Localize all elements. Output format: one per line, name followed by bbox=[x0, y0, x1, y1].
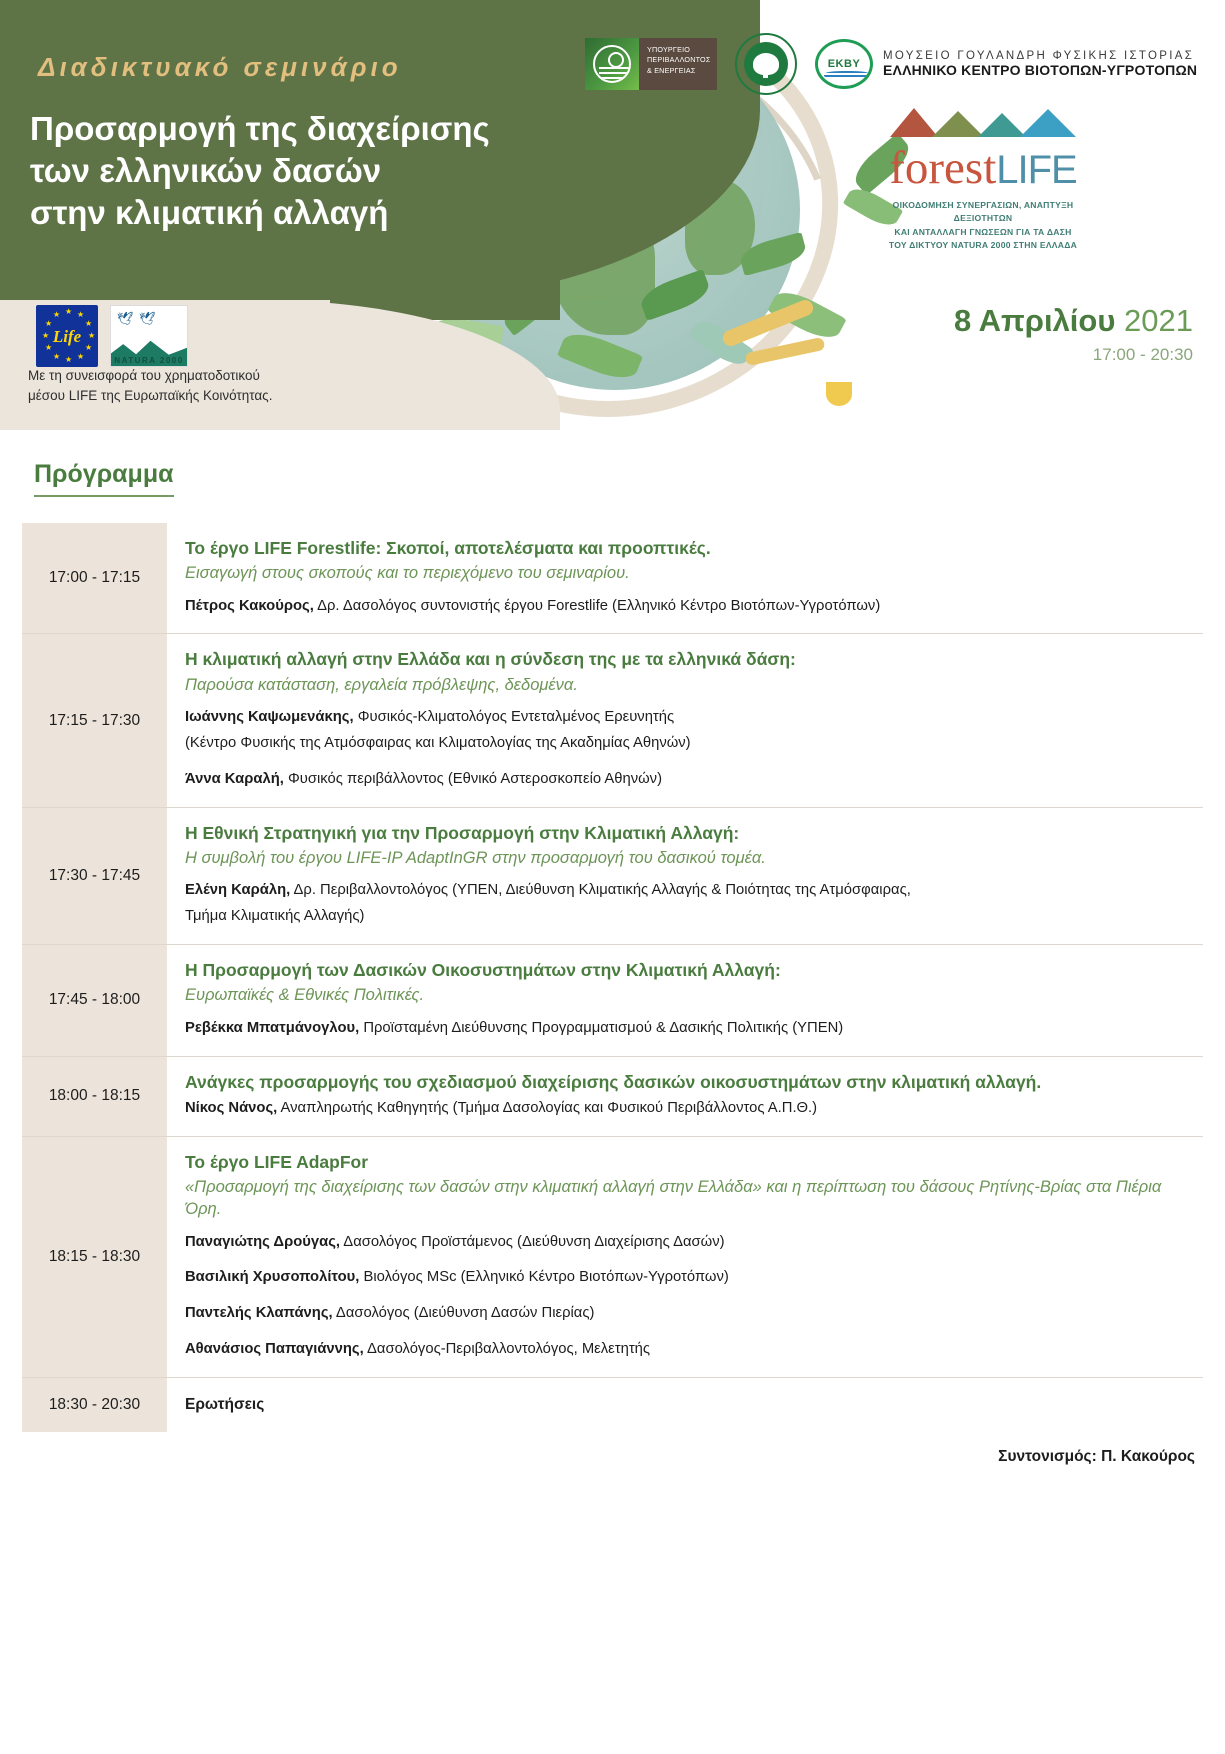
page-title-line-3: στην κλιματική αλλαγή bbox=[30, 192, 590, 234]
session-title: Η Προσαρμογή των Δασικών Οικοσυστημάτων … bbox=[185, 959, 1183, 982]
ypen-ministry-logo-icon: ΥΠΟΥΡΓΕΙΟ ΠΕΡΙΒΑΛΛΟΝΤΟΣ & ΕΝΕΡΓΕΙΑΣ bbox=[585, 38, 717, 90]
ekby-logo: EKBY ΜΟΥΣΕΙΟ ΓΟΥΛΑΝΔΡΗ ΦΥΣΙΚΗΣ ΙΣΤΟΡΙΑΣ … bbox=[815, 39, 1197, 89]
speaker-role: Προϊσταμένη Διεύθυνσης Προγραμματισμού &… bbox=[359, 1020, 843, 1036]
forestlife-tagline: ΟΙΚΟΔΟΜΗΣΗ ΣΥΝΕΡΓΑΣΙΩΝ, ΑΝΑΠΤΥΞΗ ΔΕΞΙΟΤΗ… bbox=[868, 199, 1098, 252]
speaker-name: Άννα Καραλή, bbox=[185, 771, 284, 787]
session-time: 17:30 - 17:45 bbox=[22, 808, 167, 944]
event-date-year: 2021 bbox=[1124, 303, 1193, 338]
speaker-name: Παναγιώτης Δρούγας, bbox=[185, 1234, 340, 1250]
session-time: 17:15 - 17:30 bbox=[22, 634, 167, 806]
session-title: Το έργο LIFE Forestlife: Σκοποί, αποτελέ… bbox=[185, 537, 1183, 560]
speaker-name: Πέτρος Κακούρος, bbox=[185, 598, 314, 614]
birds-icon: 🕊 🕊 bbox=[117, 311, 157, 327]
session-content: Η Εθνική Στρατηγική για την Προσαρμογή σ… bbox=[167, 808, 1203, 944]
session-content: Το έργο LIFE AdapFor«Προσαρμογή της διαχ… bbox=[167, 1137, 1203, 1377]
program-heading: Πρόγραμμα bbox=[34, 460, 174, 497]
forestlife-forest-word: forest bbox=[889, 142, 996, 194]
session-speaker: Ιωάννης Καψωμενάκης, Φυσικός-Κλιματολόγο… bbox=[185, 706, 1183, 729]
session-speaker: Παναγιώτης Δρούγας, Δασολόγος Προϊστάμεν… bbox=[185, 1231, 1183, 1254]
poster-page: Διαδικτυακό σεμινάριο Προσαρμογή της δια… bbox=[0, 0, 1225, 1754]
speaker-role: Δρ. Περιβαλλοντολόγος (ΥΠΕΝ, Διεύθυνση Κ… bbox=[290, 882, 911, 898]
speaker-name: Νίκος Νάνος, bbox=[185, 1100, 277, 1116]
table-row: 18:15 - 18:30Το έργο LIFE AdapFor«Προσαρ… bbox=[22, 1137, 1203, 1378]
table-row: 18:30 - 20:30Ερωτήσεις bbox=[22, 1378, 1203, 1432]
session-subtitle: «Προσαρμογή της διαχείρισης των δασών στ… bbox=[185, 1176, 1183, 1221]
session-speaker: Αθανάσιος Παπαγιάννης, Δασολόγος-Περιβαλ… bbox=[185, 1338, 1183, 1361]
session-content: Ανάγκες προσαρμογής του σχεδιασμού διαχε… bbox=[167, 1057, 1203, 1136]
event-date-block: 8 Απριλίου 2021 17:00 - 20:30 bbox=[954, 303, 1193, 365]
session-time: 17:45 - 18:00 bbox=[22, 945, 167, 1055]
session-subtitle: Ευρωπαϊκές & Εθνικές Πολιτικές. bbox=[185, 984, 1183, 1006]
page-title: Προσαρμογή της διαχείρισης των ελληνικών… bbox=[30, 108, 590, 234]
session-speaker: Νίκος Νάνος, Αναπληρωτής Καθηγητής (Τμήμ… bbox=[185, 1097, 1183, 1120]
session-speaker: Τμήμα Κλιματικής Αλλαγής) bbox=[185, 905, 1183, 928]
speaker-role: Αναπληρωτής Καθηγητής (Τμήμα Δασολογίας … bbox=[277, 1100, 817, 1116]
session-content: Ερωτήσεις bbox=[167, 1378, 1203, 1432]
speaker-name: Αθανάσιος Παπαγιάννης, bbox=[185, 1341, 364, 1357]
forestlife-wordmark: forestLIFE bbox=[868, 145, 1098, 192]
funding-logos: ★ ★ ★ ★ ★ ★ ★ ★ ★ ★ ★ ★ Life 🕊 🕊 bbox=[36, 305, 188, 367]
session-content: Η Προσαρμογή των Δασικών Οικοσυστημάτων … bbox=[167, 945, 1203, 1055]
speaker-name: Βασιλική Χρυσοπολίτου, bbox=[185, 1269, 359, 1285]
session-subtitle: Η συμβολή του έργου LIFE-IP AdaptInGR στ… bbox=[185, 847, 1183, 869]
ekby-abbrev: EKBY bbox=[828, 58, 861, 70]
session-content: Η κλιματική αλλαγή στην Ελλάδα και η σύν… bbox=[167, 634, 1203, 806]
table-row: 17:00 - 17:15Το έργο LIFE Forestlife: Σκ… bbox=[22, 523, 1203, 634]
session-title: Η κλιματική αλλαγή στην Ελλάδα και η σύν… bbox=[185, 648, 1183, 671]
session-speaker: Βασιλική Χρυσοπολίτου, Βιολόγος MSc (Ελλ… bbox=[185, 1266, 1183, 1289]
session-speaker: Πέτρος Κακούρος, Δρ. Δασολόγος συντονιστ… bbox=[185, 595, 1183, 618]
program-section: Πρόγραμμα 17:00 - 17:15Το έργο LIFE Fore… bbox=[0, 430, 1225, 1466]
session-content: Το έργο LIFE Forestlife: Σκοποί, αποτελέ… bbox=[167, 523, 1203, 633]
speaker-role: Δασολόγος (Διεύθυνση Δασών Πιερίας) bbox=[333, 1305, 595, 1321]
page-title-line-1: Προσαρμογή της διαχείρισης bbox=[30, 108, 590, 150]
forestlife-tagline-line-1: ΟΙΚΟΔΟΜΗΣΗ ΣΥΝΕΡΓΑΣΙΩΝ, ΑΝΑΠΤΥΞΗ ΔΕΞΙΟΤΗ… bbox=[868, 199, 1098, 226]
mountain-peaks-icon bbox=[888, 104, 1078, 138]
speaker-role: Δασολόγος-Περιβαλλοντολόγος, Μελετητής bbox=[364, 1341, 650, 1357]
natura2000-logo-icon: 🕊 🕊 NATURA 2000 bbox=[110, 305, 188, 367]
session-qa-label: Ερωτήσεις bbox=[185, 1396, 1183, 1414]
speaker-name: Παντελής Κλαπάνης, bbox=[185, 1305, 333, 1321]
session-speaker: Ρεβέκκα Μπατμάνογλου, Προϊσταμένη Διεύθυ… bbox=[185, 1017, 1183, 1040]
partner-logos: ΥΠΟΥΡΓΕΙΟ ΠΕΡΙΒΑΛΛΟΝΤΟΣ & ΕΝΕΡΓΕΙΑΣ EKBY… bbox=[585, 33, 1197, 95]
table-row: 17:30 - 17:45Η Εθνική Στρατηγική για την… bbox=[22, 808, 1203, 945]
life-wordmark: Life bbox=[36, 327, 98, 347]
session-speaker: (Κέντρο Φυσικής της Ατμόσφαιρας και Κλιμ… bbox=[185, 732, 1183, 755]
ypen-line-3: & ΕΝΕΡΓΕΙΑΣ bbox=[647, 66, 709, 76]
speaker-name: Ιωάννης Καψωμενάκης, bbox=[185, 709, 354, 725]
moderation-note: Συντονισμός: Π. Κακούρος bbox=[0, 1448, 1195, 1466]
ypen-ministry-text: ΥΠΟΥΡΓΕΙΟ ΠΕΡΙΒΑΛΛΟΝΤΟΣ & ΕΝΕΡΓΕΙΑΣ bbox=[639, 38, 717, 90]
session-time: 18:00 - 18:15 bbox=[22, 1057, 167, 1136]
speaker-role: Φυσικός-Κλιματολόγος Εντεταλμένος Ερευνη… bbox=[354, 709, 675, 725]
ypen-emblem-icon bbox=[585, 38, 639, 90]
speaker-name: Ρεβέκκα Μπατμάνογλου, bbox=[185, 1020, 359, 1036]
session-speaker: Ελένη Καράλη, Δρ. Περιβαλλοντολόγος (ΥΠΕ… bbox=[185, 879, 1183, 902]
ekby-emblem-icon: EKBY bbox=[815, 39, 873, 89]
speaker-role: Δρ. Δασολόγος συντονιστής έργου Forestli… bbox=[314, 598, 880, 614]
speaker-role: (Κέντρο Φυσικής της Ατμόσφαιρας και Κλιμ… bbox=[185, 735, 691, 751]
page-title-line-2: των ελληνικών δασών bbox=[30, 150, 590, 192]
funding-caption: Με τη συνεισφορά του χρηματοδοτικού μέσο… bbox=[28, 366, 328, 405]
session-time: 18:30 - 20:30 bbox=[22, 1378, 167, 1432]
program-table: 17:00 - 17:15Το έργο LIFE Forestlife: Σκ… bbox=[22, 523, 1203, 1432]
ypen-line-2: ΠΕΡΙΒΑΛΛΟΝΤΟΣ bbox=[647, 55, 709, 65]
event-date: 8 Απριλίου 2021 bbox=[954, 303, 1193, 339]
table-row: 17:15 - 17:30Η κλιματική αλλαγή στην Ελλ… bbox=[22, 634, 1203, 807]
session-time: 17:00 - 17:15 bbox=[22, 523, 167, 633]
forestlife-logo: forestLIFE ΟΙΚΟΔΟΜΗΣΗ ΣΥΝΕΡΓΑΣΙΩΝ, ΑΝΑΠΤ… bbox=[868, 104, 1098, 252]
table-row: 18:00 - 18:15Ανάγκες προσαρμογής του σχε… bbox=[22, 1057, 1203, 1137]
speaker-name: Ελένη Καράλη, bbox=[185, 882, 290, 898]
hero-banner: Διαδικτυακό σεμινάριο Προσαρμογή της δια… bbox=[0, 0, 1225, 430]
speaker-role: Φυσικός περιβάλλοντος (Εθνικό Αστεροσκοπ… bbox=[284, 771, 662, 787]
forestlife-tagline-line-3: ΤΟΥ ΔΙΚΤΥΟΥ NATURA 2000 ΣΤΗΝ ΕΛΛΑΔΑ bbox=[868, 239, 1098, 252]
speaker-role: Δασολόγος Προϊστάμενος (Διεύθυνση Διαχεί… bbox=[340, 1234, 725, 1250]
session-subtitle: Παρούσα κατάσταση, εργαλεία πρόβλεψης, δ… bbox=[185, 674, 1183, 696]
ekby-text: ΜΟΥΣΕΙΟ ΓΟΥΛΑΝΔΡΗ ΦΥΣΙΚΗΣ ΙΣΤΟΡΙΑΣ ΕΛΛΗΝ… bbox=[883, 50, 1197, 78]
speaker-role: Βιολόγος MSc (Ελληνικό Κέντρο Βιοτόπων-Υ… bbox=[359, 1269, 728, 1285]
forestlife-tagline-line-2: ΚΑΙ ΑΝΤΑΛΛΑΓΗ ΓΝΩΣΕΩΝ ΓΙΑ ΤΑ ΔΑΣΗ bbox=[868, 226, 1098, 239]
branch-icon bbox=[826, 382, 852, 406]
ypen-line-1: ΥΠΟΥΡΓΕΙΟ bbox=[647, 45, 709, 55]
event-time-range: 17:00 - 20:30 bbox=[954, 345, 1193, 365]
forestlife-life-word: LIFE bbox=[996, 148, 1076, 192]
ekby-line-1: ΜΟΥΣΕΙΟ ΓΟΥΛΑΝΔΡΗ ΦΥΣΙΚΗΣ ΙΣΤΟΡΙΑΣ bbox=[883, 50, 1197, 62]
forest-service-logo-icon bbox=[735, 33, 797, 95]
wave-icon bbox=[824, 71, 870, 79]
ekby-line-2: ΕΛΛΗΝΙΚΟ ΚΕΝΤΡΟ ΒΙΟΤΟΠΩΝ-ΥΓΡΟΤΟΠΩΝ bbox=[883, 62, 1197, 78]
life-eu-logo-icon: ★ ★ ★ ★ ★ ★ ★ ★ ★ ★ ★ ★ Life bbox=[36, 305, 98, 367]
session-title: Ανάγκες προσαρμογής του σχεδιασμού διαχε… bbox=[185, 1071, 1183, 1094]
session-speaker: Παντελής Κλαπάνης, Δασολόγος (Διεύθυνση … bbox=[185, 1302, 1183, 1325]
session-subtitle: Εισαγωγή στους σκοπούς και το περιεχόμεν… bbox=[185, 562, 1183, 584]
speaker-role: Τμήμα Κλιματικής Αλλαγής) bbox=[185, 908, 364, 924]
table-row: 17:45 - 18:00Η Προσαρμογή των Δασικών Οι… bbox=[22, 945, 1203, 1056]
funding-caption-line-2: μέσου LIFE της Ευρωπαϊκής Κοινότητας. bbox=[28, 386, 328, 406]
session-time: 18:15 - 18:30 bbox=[22, 1137, 167, 1377]
event-date-day: 8 Απριλίου bbox=[954, 303, 1115, 338]
session-speaker: Άννα Καραλή, Φυσικός περιβάλλοντος (Εθνι… bbox=[185, 768, 1183, 791]
funding-caption-line-1: Με τη συνεισφορά του χρηματοδοτικού bbox=[28, 366, 328, 386]
session-title: Η Εθνική Στρατηγική για την Προσαρμογή σ… bbox=[185, 822, 1183, 845]
kicker-label: Διαδικτυακό σεμινάριο bbox=[38, 52, 402, 83]
natura2000-label: NATURA 2000 bbox=[111, 356, 187, 365]
session-title: Το έργο LIFE AdapFor bbox=[185, 1151, 1183, 1174]
